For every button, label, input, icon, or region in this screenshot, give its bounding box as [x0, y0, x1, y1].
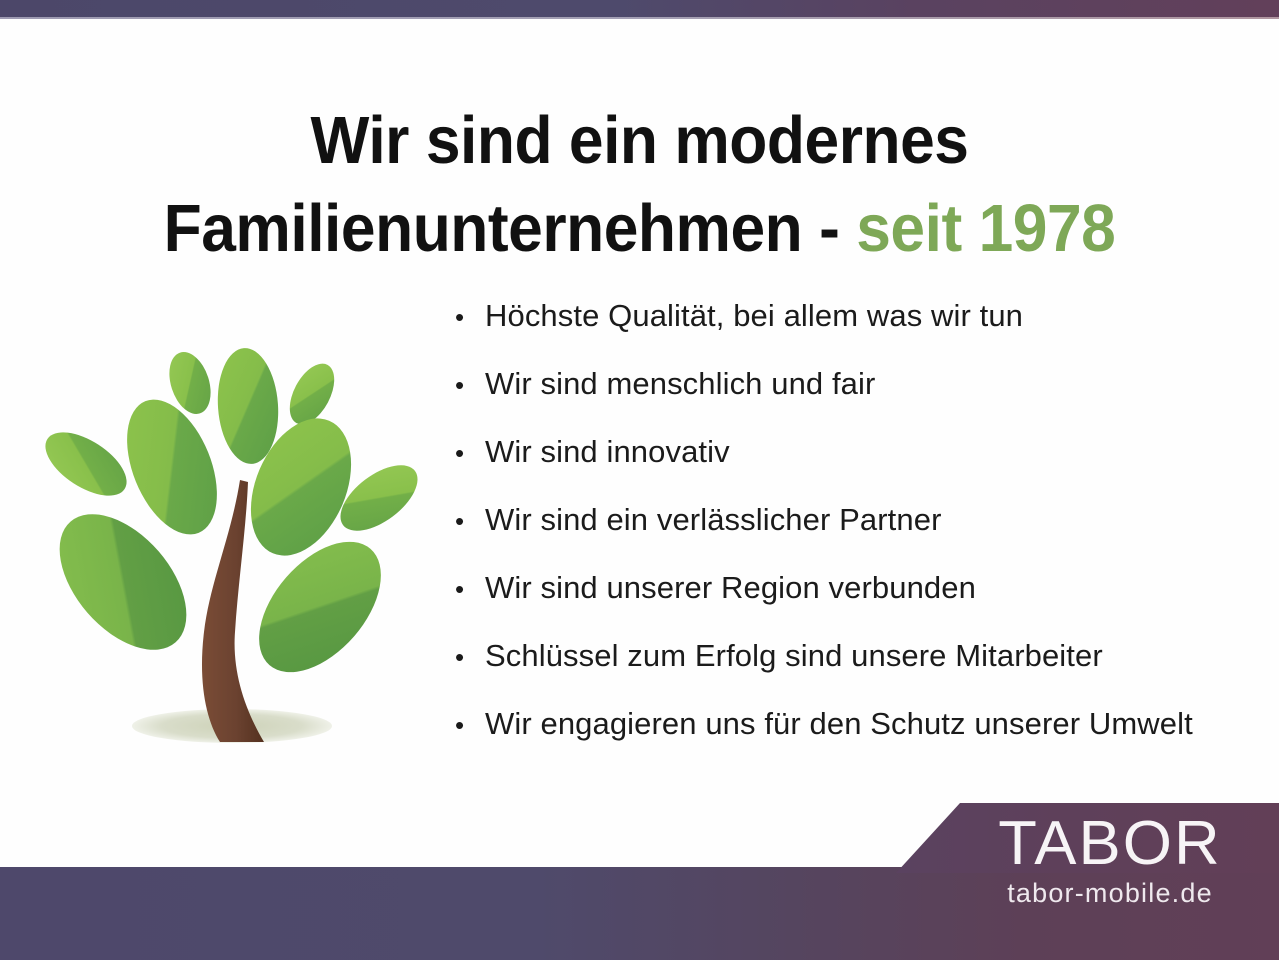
page-title: Wir sind ein modernes Familienunternehme… [45, 97, 1234, 273]
bullet-marker-icon: • [455, 576, 485, 602]
headline-accent-year: seit 1978 [856, 191, 1115, 266]
list-item: • Wir sind ein verlässlicher Partner [455, 502, 1275, 570]
list-item: • Wir engagieren uns für den Schutz unse… [455, 706, 1275, 774]
bullet-marker-icon: • [455, 440, 485, 466]
list-item: • Wir sind menschlich und fair [455, 366, 1275, 434]
list-item: • Wir sind innovativ [455, 434, 1275, 502]
tree-leaf-mid-far-left [35, 420, 137, 509]
list-item-label: Wir sind menschlich und fair [485, 366, 875, 402]
headline-line-1: Wir sind ein modernes [45, 97, 1234, 185]
tree-leaf-mid-left [109, 387, 235, 548]
list-item-label: Wir sind unserer Region verbunden [485, 570, 976, 606]
list-item-label: Wir sind ein verlässlicher Partner [485, 502, 942, 538]
bullet-marker-icon: • [455, 644, 485, 670]
bullet-marker-icon: • [455, 508, 485, 534]
footer-bar [0, 867, 1279, 960]
list-item-label: Höchste Qualität, bei allem was wir tun [485, 298, 1023, 334]
tree-illustration [24, 332, 436, 760]
headline-line-2: Familienunternehmen - seit 1978 [45, 185, 1234, 273]
list-item: • Wir sind unserer Region verbunden [455, 570, 1275, 638]
bullet-marker-icon: • [455, 712, 485, 738]
top-accent-hairline [0, 17, 1279, 19]
top-accent-bar [0, 0, 1279, 17]
headline-line-2-plain: Familienunternehmen - [164, 191, 857, 266]
logo-panel [890, 803, 1279, 873]
benefits-list: • Höchste Qualität, bei allem was wir tu… [455, 298, 1275, 774]
slide-canvas: Wir sind ein modernes Familienunternehme… [0, 0, 1279, 960]
list-item: • Schlüssel zum Erfolg sind unsere Mitar… [455, 638, 1275, 706]
bullet-marker-icon: • [455, 304, 485, 330]
bullet-marker-icon: • [455, 372, 485, 398]
tree-leaf-low-right [236, 519, 405, 694]
list-item-label: Wir sind innovativ [485, 434, 730, 470]
list-item: • Höchste Qualität, bei allem was wir tu… [455, 298, 1275, 366]
list-item-label: Schlüssel zum Erfolg sind unsere Mitarbe… [485, 638, 1103, 674]
list-item-label: Wir engagieren uns für den Schutz unsere… [485, 706, 1193, 742]
